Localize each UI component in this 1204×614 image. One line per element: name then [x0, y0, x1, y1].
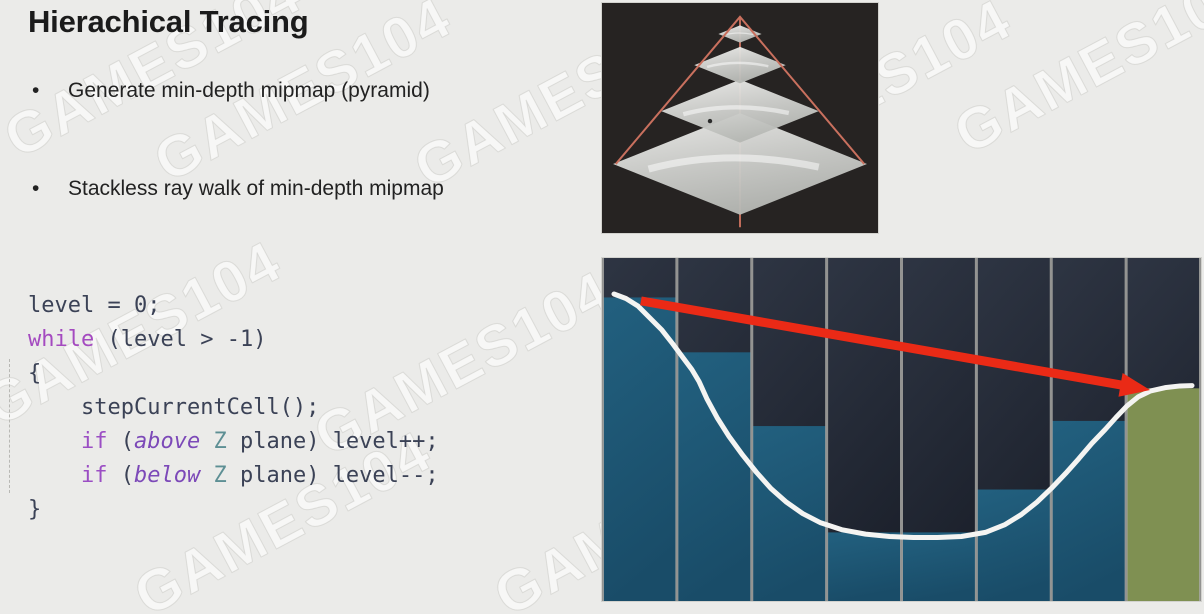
code-token: [200, 463, 213, 488]
min-depth-fill-2: [753, 426, 826, 601]
code-token: >: [187, 327, 227, 352]
code-token: ;: [147, 293, 160, 318]
code-line: {: [28, 357, 439, 391]
code-token: [28, 429, 81, 454]
code-token: (: [107, 429, 134, 454]
code-token: while: [28, 327, 94, 352]
code-token: if: [81, 429, 108, 454]
code-indent-guide: [9, 359, 10, 493]
min-depth-fill-0: [603, 297, 676, 601]
code-token: [28, 463, 81, 488]
code-line: level = 0;: [28, 289, 439, 323]
page-title: Hierachical Tracing: [28, 4, 309, 40]
heightfield-raywalk-svg: [602, 258, 1201, 601]
min-depth-fill-5: [977, 490, 1050, 601]
min-depth-fill-1: [678, 352, 751, 601]
code-token: ++;: [399, 429, 439, 454]
bullet-list: • Generate min-depth mipmap (pyramid) • …: [28, 78, 588, 202]
code-token: above: [134, 429, 200, 454]
sample-point-marker: [708, 119, 712, 123]
code-token: -1: [227, 327, 254, 352]
code-token: [94, 293, 107, 318]
code-token: {: [28, 361, 41, 386]
slide-content: Hierachical Tracing • Generate min-depth…: [0, 0, 1204, 614]
code-token: Z: [213, 429, 226, 454]
code-token: stepCurrentCell: [81, 395, 280, 420]
code-token: 0: [134, 293, 147, 318]
code-token: level: [333, 429, 399, 454]
code-line: if (above Z plane) level++;: [28, 425, 439, 459]
code-token: --;: [399, 463, 439, 488]
code-line: stepCurrentCell();: [28, 391, 439, 425]
code-token: below: [134, 463, 200, 488]
code-token: Z: [213, 463, 226, 488]
code-token: plane): [227, 429, 333, 454]
code-token: [28, 395, 81, 420]
code-token: =: [107, 293, 120, 318]
code-token: plane): [227, 463, 333, 488]
code-token: level: [28, 293, 94, 318]
min-depth-fill-3: [828, 532, 901, 601]
list-item-label: Generate min-depth mipmap (pyramid): [68, 79, 430, 102]
min-depth-fill-4: [903, 532, 976, 601]
code-line: if (below Z plane) level--;: [28, 459, 439, 493]
code-token: (: [107, 463, 134, 488]
code-token: ): [253, 327, 266, 352]
code-token: }: [28, 497, 41, 522]
mipmap-pyramid-figure: [601, 2, 879, 234]
list-item: • Stackless ray walk of min-depth mipmap: [28, 176, 588, 202]
code-token: if: [81, 463, 108, 488]
code-token: level: [121, 327, 187, 352]
code-token: (: [94, 327, 121, 352]
code-token: ();: [280, 395, 320, 420]
code-block: level = 0;while (level > -1){ stepCurren…: [28, 289, 439, 527]
code-token: [200, 429, 213, 454]
list-item-label: Stackless ray walk of min-depth mipmap: [68, 177, 444, 200]
code-token: [121, 293, 134, 318]
code-line: }: [28, 493, 439, 527]
hit-cell-fill: [1127, 388, 1200, 601]
mipmap-pyramid-svg: [602, 3, 878, 233]
code-token: level: [333, 463, 399, 488]
bullet-marker-icon: •: [32, 78, 39, 104]
list-item: • Generate min-depth mipmap (pyramid): [28, 78, 588, 104]
bullet-marker-icon: •: [32, 176, 39, 202]
heightfield-raywalk-figure: [601, 257, 1202, 602]
code-line: while (level > -1): [28, 323, 439, 357]
